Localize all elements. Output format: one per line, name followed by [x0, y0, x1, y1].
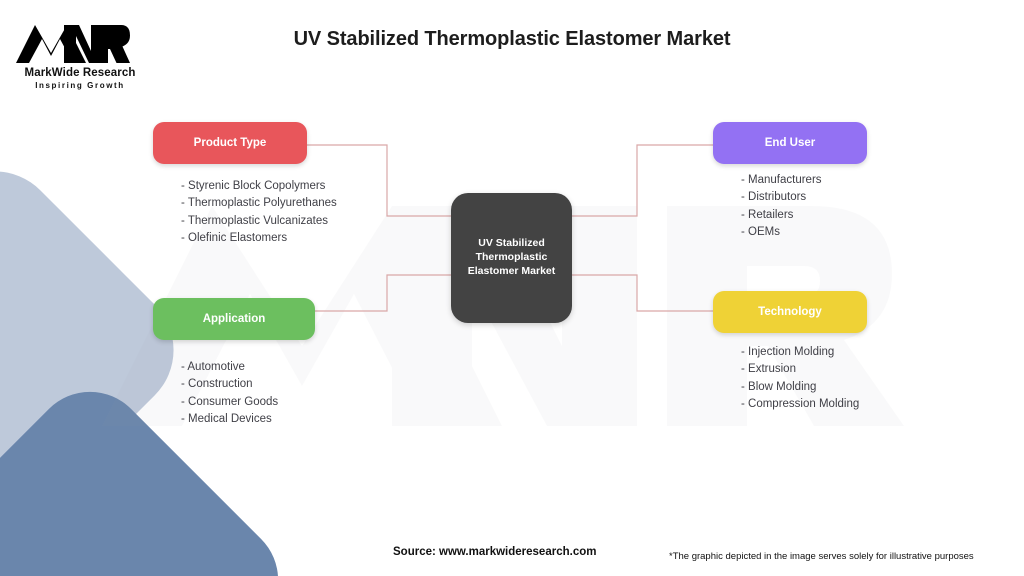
disclaimer-text: *The graphic depicted in the image serve… — [669, 551, 974, 562]
center-node-line-3: Elastomer Market — [468, 265, 556, 279]
list-item: - Medical Devices — [181, 411, 278, 428]
list-item: - Blow Molding — [741, 379, 859, 396]
branch-label-product-type: Product Type — [194, 137, 267, 149]
branch-pill-application[interactable]: Application — [153, 298, 315, 340]
list-item: - Consumer Goods — [181, 394, 278, 411]
connector-end-user — [572, 145, 713, 216]
branch-pill-end-user[interactable]: End User — [713, 122, 867, 164]
branch-pill-technology[interactable]: Technology — [713, 291, 867, 333]
center-node-line-2: Thermoplastic — [468, 251, 556, 265]
center-node-line-1: UV Stabilized — [468, 237, 556, 251]
branch-label-technology: Technology — [758, 306, 822, 318]
list-item: - Compression Molding — [741, 396, 859, 413]
source-text: Source: www.markwideresearch.com — [393, 546, 596, 558]
branch-items-end-user: - Manufacturers - Distributors - Retaile… — [741, 172, 822, 242]
brand-tagline: Inspiring Growth — [14, 81, 146, 90]
list-item: - Automotive — [181, 359, 278, 376]
center-node-text: UV Stabilized Thermoplastic Elastomer Ma… — [462, 237, 562, 279]
list-item: - Thermoplastic Vulcanizates — [181, 213, 337, 230]
list-item: - Extrusion — [741, 361, 859, 378]
branch-items-product-type: - Styrenic Block Copolymers - Thermoplas… — [181, 178, 337, 248]
list-item: - Injection Molding — [741, 344, 859, 361]
branch-label-end-user: End User — [765, 137, 816, 149]
page-title: UV Stabilized Thermoplastic Elastomer Ma… — [0, 28, 1024, 51]
infographic-canvas: MarkWide Research Inspiring Growth UV St… — [0, 0, 1024, 576]
branch-pill-product-type[interactable]: Product Type — [153, 122, 307, 164]
list-item: - OEMs — [741, 224, 822, 241]
branch-label-application: Application — [203, 313, 266, 325]
list-item: - Thermoplastic Polyurethanes — [181, 195, 337, 212]
list-item: - Retailers — [741, 207, 822, 224]
branch-items-application: - Automotive - Construction - Consumer G… — [181, 359, 278, 429]
connector-technology — [572, 275, 713, 311]
brand-name: MarkWide Research — [14, 67, 146, 79]
center-node[interactable]: UV Stabilized Thermoplastic Elastomer Ma… — [451, 193, 572, 323]
branch-items-technology: - Injection Molding - Extrusion - Blow M… — [741, 344, 859, 414]
list-item: - Distributors — [741, 189, 822, 206]
connector-application — [315, 275, 451, 311]
list-item: - Styrenic Block Copolymers — [181, 178, 337, 195]
list-item: - Olefinic Elastomers — [181, 230, 337, 247]
list-item: - Construction — [181, 376, 278, 393]
list-item: - Manufacturers — [741, 172, 822, 189]
decorative-shape-light — [0, 145, 200, 555]
